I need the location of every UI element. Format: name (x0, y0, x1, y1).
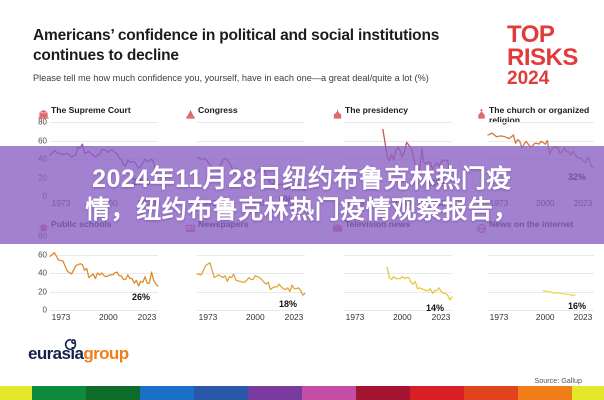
x-axis-tick-label: 1973 (490, 312, 509, 322)
plot-area: 02040608014% (344, 236, 452, 310)
overlay-line-2: 情，纽约布鲁克林热门疫情观察报告， (85, 196, 519, 226)
x-axis-tick-label: 1973 (52, 312, 71, 322)
page-subtitle: Please tell me how much confidence you, … (33, 72, 448, 85)
footer: eurasiagroup Source: Gallup (0, 338, 604, 400)
page-title: Americans’ confidence in political and s… (33, 26, 453, 66)
stripe-segment (0, 386, 32, 400)
y-axis-tick-label: 80 (38, 118, 47, 127)
series-line (488, 236, 594, 310)
x-axis-tick-label: 1973 (346, 312, 365, 322)
plot-area: 02040608018% (197, 236, 305, 310)
gridline (50, 310, 158, 311)
stripe-segment (86, 386, 140, 400)
stripe-segment (140, 386, 194, 400)
header: Americans’ confidence in political and s… (0, 0, 604, 106)
stripe-segment (518, 386, 572, 400)
top-risks-logo: TOP RISKS 2024 (507, 24, 587, 88)
stripe-segment (302, 386, 356, 400)
overlay-line-1: 2024年11月28日纽约布鲁克林热门疫 (92, 165, 512, 195)
series-end-value-label: 16% (568, 301, 586, 311)
stripe-segment (248, 386, 302, 400)
x-axis-tick-label: 2000 (99, 312, 118, 322)
stripe-segment (194, 386, 248, 400)
x-axis-tick-label: 2000 (536, 312, 555, 322)
series-line (344, 236, 452, 310)
chart-panel-title: The presidency (332, 106, 462, 116)
eurasia-group-logo: eurasiagroup (28, 344, 129, 364)
stripe-segment (410, 386, 464, 400)
infographic-page: Americans’ confidence in political and s… (0, 0, 604, 400)
x-axis-tick-label: 2023 (138, 312, 157, 322)
y-axis-tick-label: 60 (38, 136, 47, 145)
brand-line-2: RISKS (507, 47, 587, 70)
y-axis-tick-label: 60 (38, 250, 47, 259)
headline-overlay-banner: 2024年11月28日纽约布鲁克林热门疫 情，纽约布鲁克林热门疫情观察报告， (0, 146, 604, 244)
stripe-segment (32, 386, 86, 400)
x-axis: 197320002023 (197, 312, 305, 324)
x-axis: 197320002023 (344, 312, 452, 324)
y-axis-tick-label: 40 (38, 269, 47, 278)
stripe-segment (464, 386, 518, 400)
plot-area: 02040608016% (488, 236, 594, 310)
eurasia-group-wordmark: eurasiagroup (28, 344, 129, 364)
x-axis-tick-label: 2023 (432, 312, 451, 322)
x-axis: 197320002023 (488, 312, 594, 324)
gridline (197, 310, 305, 311)
series-end-value-label: 26% (132, 292, 150, 302)
plot-area: 02040608026% (50, 236, 158, 310)
chart-panel-title: The Supreme Court (38, 106, 168, 116)
color-stripe (0, 386, 604, 400)
x-axis-tick-label: 2000 (246, 312, 265, 322)
x-axis: 197320002023 (50, 312, 158, 324)
x-axis-tick-label: 2023 (574, 312, 593, 322)
eurasia-mark-icon (64, 338, 77, 351)
y-axis-tick-label: 0 (43, 306, 47, 315)
x-axis-tick-label: 1973 (199, 312, 218, 322)
y-axis-tick-label: 20 (38, 287, 47, 296)
logo-text-group: group (83, 344, 128, 363)
chart-panel-title: Congress (185, 106, 315, 116)
stripe-segment (356, 386, 410, 400)
x-axis-tick-label: 2023 (285, 312, 304, 322)
series-end-value-label: 18% (279, 299, 297, 309)
stripe-segment (572, 386, 604, 400)
x-axis-tick-label: 2000 (393, 312, 412, 322)
brand-line-3: 2024 (507, 70, 587, 88)
source-note: Source: Gallup (534, 376, 582, 385)
